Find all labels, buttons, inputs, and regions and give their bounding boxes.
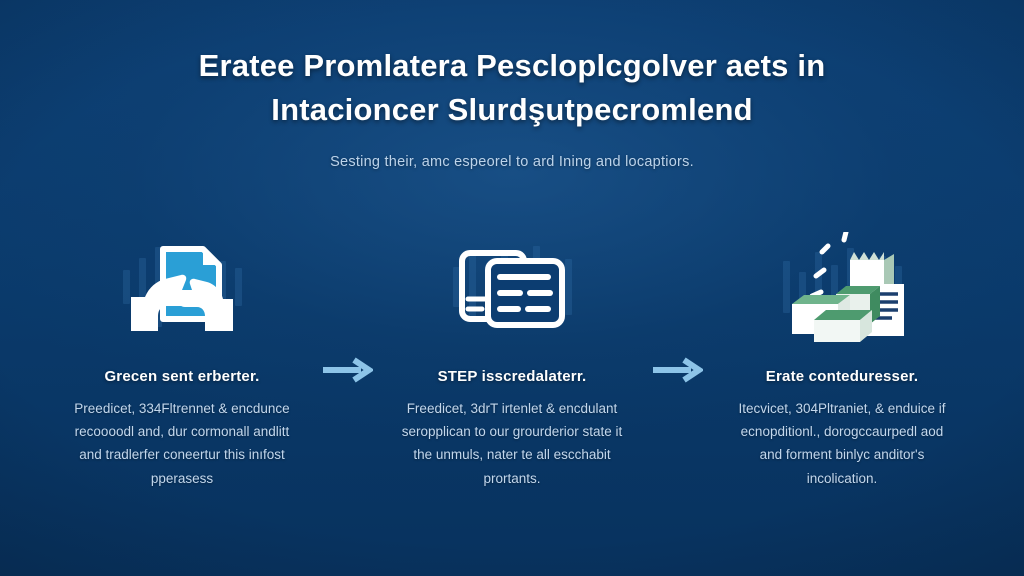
step-2: STEP isscredalaterr. Freedicet, 3drT irt… bbox=[384, 228, 640, 490]
header: Eratee Promlatera Pescloplcgolver aets i… bbox=[0, 44, 1024, 170]
step-3: Erate conteduresser. Itecvicet, 304Pltra… bbox=[714, 228, 970, 490]
stacked-documents-icon bbox=[456, 241, 568, 333]
title-line-1: Eratee Promlatera Pescloplcgolver aets i… bbox=[110, 44, 914, 88]
infographic-canvas: Eratee Promlatera Pescloplcgolver aets i… bbox=[0, 0, 1024, 576]
arrow-2 bbox=[640, 228, 714, 383]
step-2-heading: STEP isscredalaterr. bbox=[438, 368, 587, 385]
arrow-1 bbox=[310, 228, 384, 383]
page-subtitle: Sesting their, amc espeorel to ard Ining… bbox=[0, 154, 1024, 170]
arrow-right-icon bbox=[651, 357, 703, 383]
title-line-2: Intacioncer Slurdşutpecromlend bbox=[110, 88, 914, 132]
step-2-body: Freedicet, 3drT irtenlet & encdulant ser… bbox=[384, 397, 640, 490]
steps-row: Grecen sent erberter. Preedicet, 334Fltr… bbox=[0, 228, 1024, 490]
step-3-icon-wrap bbox=[747, 228, 937, 346]
arrow-right-icon bbox=[321, 357, 373, 383]
page-title: Eratee Promlatera Pescloplcgolver aets i… bbox=[0, 44, 1024, 132]
boxes-with-document-icon bbox=[780, 232, 904, 342]
step-1-body: Preedicet, 334Fltrennet & encdunce recoo… bbox=[54, 397, 310, 490]
step-3-heading: Erate conteduresser. bbox=[766, 368, 918, 385]
hands-holding-document-icon bbox=[123, 235, 241, 339]
step-1: Grecen sent erberter. Preedicet, 334Fltr… bbox=[54, 228, 310, 490]
step-1-heading: Grecen sent erberter. bbox=[104, 368, 259, 385]
step-3-body: Itecvicet, 304Pltraniet, & enduice if ec… bbox=[714, 397, 970, 490]
step-1-icon-wrap bbox=[87, 228, 277, 346]
step-2-icon-wrap bbox=[417, 228, 607, 346]
